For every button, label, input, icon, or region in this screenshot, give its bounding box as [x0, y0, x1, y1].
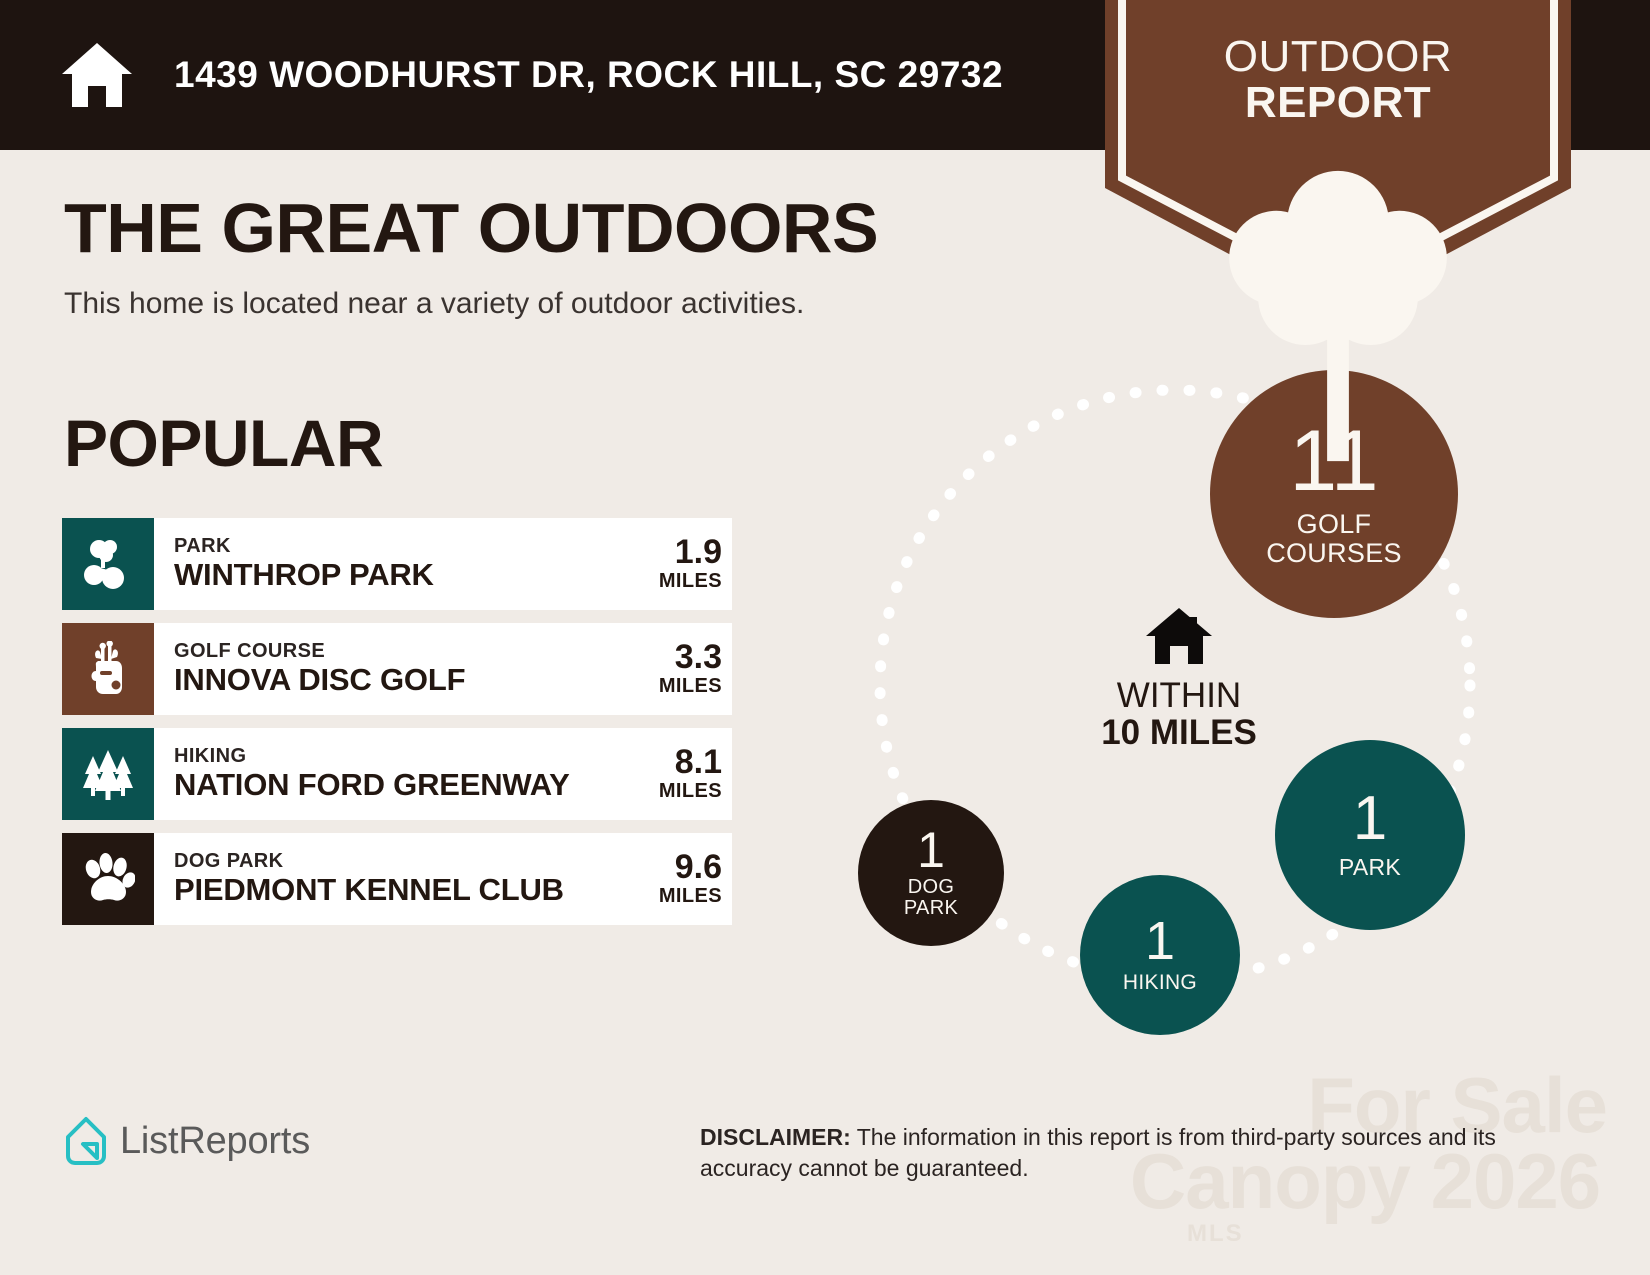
list-item[interactable]: HIKING NATION FORD GREENWAY 8.1 MILES	[62, 728, 732, 820]
home-icon	[1143, 654, 1215, 671]
bubble-count: 1	[1145, 916, 1175, 967]
list-item-unit: MILES	[659, 674, 722, 699]
list-item-distance: 1.9	[659, 535, 722, 569]
popular-list: PARK WINTHROP PARK 1.9 MILES	[62, 518, 732, 938]
bubble-label: DOG PARK	[904, 877, 958, 919]
list-item-category: HIKING	[174, 745, 570, 768]
bubble-count: 1	[1353, 790, 1387, 849]
list-item-distance: 9.6	[659, 850, 722, 884]
header-content: 1439 WOODHURST DR, ROCK HILL, SC 29732	[58, 0, 1003, 150]
disclaimer: DISCLAIMER: The information in this repo…	[700, 1122, 1510, 1183]
list-item-name: NATION FORD GREENWAY	[174, 768, 570, 802]
list-item-name: WINTHROP PARK	[174, 558, 434, 592]
diagram-center: WITHIN 10 MILES	[1044, 605, 1314, 752]
listreports-logo[interactable]: ListReports	[64, 1116, 310, 1166]
list-item-unit: MILES	[659, 569, 722, 594]
golf-bag-icon	[62, 623, 154, 715]
bubble-park[interactable]: 1 PARK	[1275, 740, 1465, 930]
park-tree-icon	[62, 518, 154, 610]
page-subtitle: This home is located near a variety of o…	[64, 287, 804, 321]
bubble-dog-park[interactable]: 1 DOG PARK	[858, 800, 1004, 946]
list-item-category: PARK	[174, 535, 434, 558]
paw-print-icon	[62, 833, 154, 925]
bubble-label: GOLF COURSES	[1266, 510, 1402, 567]
pine-trees-icon	[62, 728, 154, 820]
outdoor-report-badge: OUTDOOR REPORT	[1105, 0, 1571, 312]
list-item-category: GOLF COURSE	[174, 640, 465, 663]
list-item-name: PIEDMONT KENNEL CLUB	[174, 873, 564, 907]
list-item[interactable]: GOLF COURSE INNOVA DISC GOLF 3.3 MILES	[62, 623, 732, 715]
list-item-distance: 3.3	[659, 640, 722, 674]
page-title: THE GREAT OUTDOORS	[64, 193, 878, 263]
list-item-distance: 8.1	[659, 745, 722, 779]
bubble-label-line2: PARK	[904, 898, 958, 919]
property-address: 1439 WOODHURST DR, ROCK HILL, SC 29732	[174, 54, 1003, 96]
listreports-house-pin-icon	[64, 1116, 108, 1166]
list-item[interactable]: PARK WINTHROP PARK 1.9 MILES	[62, 518, 732, 610]
bubble-label: HIKING	[1123, 972, 1197, 994]
bubble-label: PARK	[1339, 855, 1401, 879]
disclaimer-label: DISCLAIMER:	[700, 1124, 851, 1150]
home-icon	[58, 40, 136, 110]
bubble-label-line2: COURSES	[1266, 539, 1402, 568]
list-item-category: DOG PARK	[174, 850, 564, 873]
list-item[interactable]: DOG PARK PIEDMONT KENNEL CLUB 9.6 MILES	[62, 833, 732, 925]
popular-heading: POPULAR	[64, 410, 383, 476]
diagram-center-line1: WITHIN	[1044, 678, 1314, 715]
bubble-count: 1	[917, 827, 945, 875]
list-item-unit: MILES	[659, 779, 722, 804]
bubble-label-line1: DOG	[904, 877, 958, 898]
watermark-line3: MLS	[1105, 1220, 1625, 1248]
diagram-center-line2: 10 MILES	[1044, 715, 1314, 752]
listreports-wordmark: ListReports	[120, 1120, 310, 1163]
bubble-label-line1: GOLF	[1266, 510, 1402, 539]
bubble-hiking[interactable]: 1 HIKING	[1080, 875, 1240, 1035]
list-item-unit: MILES	[659, 884, 722, 909]
list-item-name: INNOVA DISC GOLF	[174, 663, 465, 697]
